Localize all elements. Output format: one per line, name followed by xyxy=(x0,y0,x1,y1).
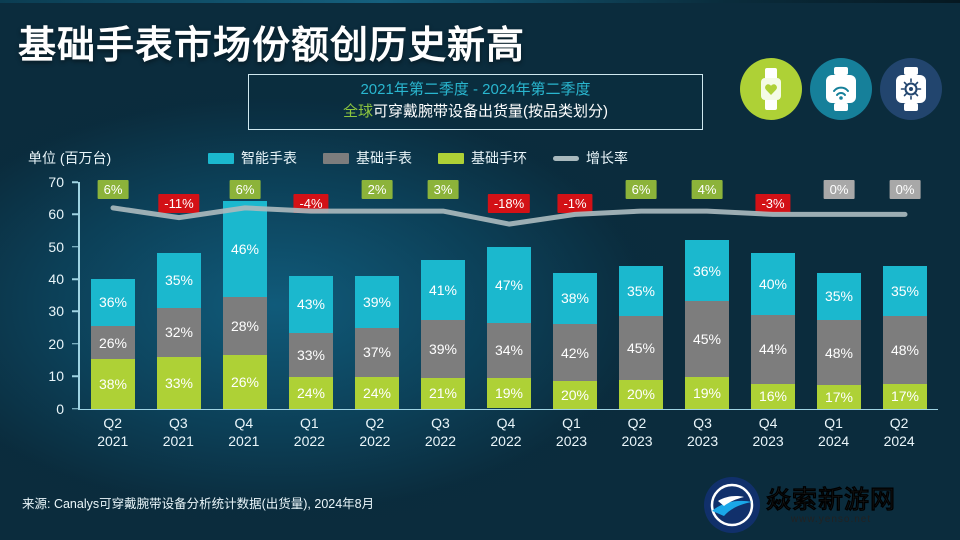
bar-segment-smart[interactable]: 46% xyxy=(223,201,267,296)
bar-segment-smart[interactable]: 40% xyxy=(751,253,795,315)
x-axis-label: Q42023 xyxy=(735,414,801,450)
x-axis-label: Q42022 xyxy=(473,414,539,450)
bar-column[interactable]: 35%45%20%6% xyxy=(608,182,674,409)
y-axis-tick-label: 40 xyxy=(48,271,64,287)
bar-segment-smart[interactable]: 41% xyxy=(421,260,465,320)
watermark-name: 焱索新游网 xyxy=(766,486,896,514)
y-axis-tick-label: 0 xyxy=(56,401,64,417)
x-axis-label: Q22022 xyxy=(342,414,408,450)
bar-columns: 36%26%38%6%35%32%33%-11%46%28%26%6%43%33… xyxy=(80,182,938,409)
y-axis-tick-label: 70 xyxy=(48,174,64,190)
growth-rate-badge: -3% xyxy=(755,194,790,213)
bar-segment-basic[interactable]: 45% xyxy=(619,316,663,380)
bar-column[interactable]: 36%26%38%6% xyxy=(80,182,146,409)
chart-plot-area: 010203040506070 36%26%38%6%35%32%33%-11%… xyxy=(28,182,938,410)
bar-segment-band[interactable]: 38% xyxy=(91,359,135,408)
bar-column[interactable]: 38%42%20%-1% xyxy=(542,182,608,409)
stacked-bar[interactable]: 41%39%21% xyxy=(421,260,465,409)
bar-column[interactable]: 35%32%33%-11% xyxy=(146,182,212,409)
legend-label-growthrate: 增长率 xyxy=(586,148,628,168)
growth-rate-badge: 6% xyxy=(230,180,261,199)
growth-rate-badge: 2% xyxy=(362,180,393,199)
x-axis-label: Q12022 xyxy=(277,414,343,450)
bar-segment-basic[interactable]: 48% xyxy=(883,316,927,384)
slide-root: 基础手表市场份额创历史新高 2021年第二季度 - 2024年第二季度 全球可穿… xyxy=(0,0,960,540)
bar-column[interactable]: 40%44%16%-3% xyxy=(740,182,806,409)
bar-segment-basic[interactable]: 33% xyxy=(289,333,333,377)
bar-segment-basic[interactable]: 37% xyxy=(355,328,399,377)
watermark-url: www.yenso.net xyxy=(791,514,871,525)
bar-segment-basic[interactable]: 34% xyxy=(487,323,531,378)
bar-segment-band[interactable]: 19% xyxy=(685,377,729,409)
subtitle-rest: 可穿戴腕带设备出货量(按品类划分) xyxy=(373,103,608,120)
subtitle-description: 全球可穿戴腕带设备出货量(按品类划分) xyxy=(249,100,702,124)
bar-segment-basic[interactable]: 32% xyxy=(157,308,201,358)
subtitle-box: 2021年第二季度 - 2024年第二季度 全球可穿戴腕带设备出货量(按品类划分… xyxy=(248,74,703,130)
fitness-band-heart-icon xyxy=(740,58,802,120)
x-axis-label: Q32021 xyxy=(146,414,212,450)
bar-segment-smart[interactable]: 35% xyxy=(883,266,927,316)
bar-segment-smart[interactable]: 47% xyxy=(487,247,531,323)
bar-segment-band[interactable]: 17% xyxy=(883,384,927,408)
bar-segment-basic[interactable]: 28% xyxy=(223,297,267,355)
legend-swatch-smartwatch xyxy=(208,153,234,164)
stacked-bar[interactable]: 35%48%17% xyxy=(883,266,927,408)
legend-item-smartwatch: 智能手表 xyxy=(208,148,297,168)
x-axis-label: Q12023 xyxy=(539,414,605,450)
bar-segment-band[interactable]: 33% xyxy=(157,357,201,408)
growth-rate-badge: -18% xyxy=(488,194,530,213)
legend-item-basicband: 基础手环 xyxy=(438,148,527,168)
bar-segment-basic[interactable]: 44% xyxy=(751,315,795,383)
growth-rate-badge: 4% xyxy=(692,180,723,199)
bar-segment-basic[interactable]: 39% xyxy=(421,320,465,377)
category-badges xyxy=(740,58,942,120)
subtitle-highlight: 全球 xyxy=(343,103,373,120)
y-axis-tick-label: 50 xyxy=(48,239,64,255)
stacked-bar[interactable]: 39%37%24% xyxy=(355,276,399,409)
bar-segment-smart[interactable]: 35% xyxy=(817,273,861,321)
bar-segment-smart[interactable]: 38% xyxy=(553,273,597,325)
bar-segment-band[interactable]: 20% xyxy=(553,381,597,408)
chart-legend: 智能手表 基础手表 基础手环 增长率 xyxy=(208,148,628,168)
x-axis-label: Q42021 xyxy=(211,414,277,450)
smartwatch-gear-icon xyxy=(880,58,942,120)
x-axis-label: Q22024 xyxy=(866,414,932,450)
bar-segment-band[interactable]: 24% xyxy=(289,377,333,409)
bar-segment-band[interactable]: 21% xyxy=(421,378,465,409)
growth-rate-badge: 3% xyxy=(428,180,459,199)
stacked-bar[interactable]: 35%32%33% xyxy=(157,253,201,408)
stacked-bar[interactable]: 46%28%26% xyxy=(223,201,267,408)
stacked-bar[interactable]: 38%42%20% xyxy=(553,273,597,409)
bar-segment-band[interactable]: 20% xyxy=(619,380,663,408)
x-axis-line xyxy=(78,409,938,411)
bar-segment-smart[interactable]: 35% xyxy=(157,253,201,307)
source-note: 来源: Canalys可穿戴腕带设备分析统计数据(出货量), 2024年8月 xyxy=(22,493,374,512)
bar-segment-smart[interactable]: 36% xyxy=(91,279,135,326)
bar-column[interactable]: 36%45%19%4% xyxy=(674,182,740,409)
legend-label-basicwatch: 基础手表 xyxy=(356,148,412,168)
stacked-bar[interactable]: 35%48%17% xyxy=(817,273,861,409)
growth-rate-badge: 6% xyxy=(98,180,129,199)
legend-item-basicwatch: 基础手表 xyxy=(323,148,412,168)
bar-column[interactable]: 43%33%24%-4% xyxy=(278,182,344,409)
stacked-bar[interactable]: 36%26%38% xyxy=(91,279,135,408)
watermark-text: 焱索新游网 www.yenso.net xyxy=(766,486,896,525)
bar-segment-basic[interactable]: 26% xyxy=(91,326,135,360)
y-axis-tick-label: 60 xyxy=(48,206,64,222)
bar-segment-smart[interactable]: 39% xyxy=(355,276,399,328)
top-accent-bar xyxy=(0,0,960,3)
y-axis-tick-label: 20 xyxy=(48,336,64,352)
unit-label: 单位 (百万台) xyxy=(28,148,111,168)
bar-column[interactable]: 39%37%24%2% xyxy=(344,182,410,409)
growth-rate-badge: -1% xyxy=(557,194,592,213)
legend-label-basicband: 基础手环 xyxy=(471,148,527,168)
stacked-bar[interactable]: 47%34%19% xyxy=(487,247,531,409)
bar-segment-basic[interactable]: 42% xyxy=(553,324,597,381)
stacked-bar[interactable]: 43%33%24% xyxy=(289,276,333,409)
page-title: 基础手表市场份额创历史新高 xyxy=(18,14,525,69)
legend-swatch-basicwatch xyxy=(323,153,349,164)
watch-signal-icon xyxy=(810,58,872,120)
watermark: 焱索新游网 www.yenso.net xyxy=(704,474,954,536)
x-axis-label: Q32022 xyxy=(408,414,474,450)
growth-rate-badge: 6% xyxy=(626,180,657,199)
legend-label-smartwatch: 智能手表 xyxy=(241,148,297,168)
bar-segment-band[interactable]: 17% xyxy=(817,385,861,408)
growth-rate-badge: 0% xyxy=(824,180,855,199)
bar-segment-basic[interactable]: 48% xyxy=(817,320,861,385)
bar-column[interactable]: 35%48%17%0% xyxy=(806,182,872,409)
growth-rate-badge: -11% xyxy=(158,194,199,213)
y-axis-tick-label: 10 xyxy=(48,368,64,384)
stacked-bar[interactable]: 35%45%20% xyxy=(619,266,663,408)
legend-swatch-growthrate xyxy=(553,156,579,161)
x-axis-label: Q22021 xyxy=(80,414,146,450)
y-axis-tick-label: 30 xyxy=(48,303,64,319)
bar-segment-smart[interactable]: 43% xyxy=(289,276,333,333)
stacked-bar[interactable]: 40%44%16% xyxy=(751,253,795,408)
x-axis-labels: Q22021Q32021Q42021Q12022Q22022Q32022Q420… xyxy=(80,414,932,450)
bar-column[interactable]: 41%39%21%3% xyxy=(410,182,476,409)
bar-column[interactable]: 46%28%26%6% xyxy=(212,182,278,409)
stacked-bar[interactable]: 36%45%19% xyxy=(685,240,729,408)
legend-item-growthrate: 增长率 xyxy=(553,148,628,168)
bar-column[interactable]: 47%34%19%-18% xyxy=(476,182,542,409)
watermark-logo-icon xyxy=(704,477,760,533)
x-axis-label: Q22023 xyxy=(604,414,670,450)
y-axis: 010203040506070 xyxy=(28,182,74,410)
legend-swatch-basicband xyxy=(438,153,464,164)
bar-segment-smart[interactable]: 35% xyxy=(619,266,663,316)
bar-segment-band[interactable]: 24% xyxy=(355,377,399,409)
growth-rate-badge: -4% xyxy=(293,194,328,213)
bar-segment-basic[interactable]: 45% xyxy=(685,301,729,377)
bar-column[interactable]: 35%48%17%0% xyxy=(872,182,938,409)
subtitle-period: 2021年第二季度 - 2024年第二季度 xyxy=(249,79,702,100)
bar-segment-band[interactable]: 19% xyxy=(487,378,531,409)
bar-segment-band[interactable]: 16% xyxy=(751,384,795,409)
bar-segment-smart[interactable]: 36% xyxy=(685,240,729,301)
growth-rate-badge: 0% xyxy=(890,180,921,199)
x-axis-label: Q12024 xyxy=(801,414,867,450)
x-axis-label: Q32023 xyxy=(670,414,736,450)
bar-segment-band[interactable]: 26% xyxy=(223,355,267,409)
